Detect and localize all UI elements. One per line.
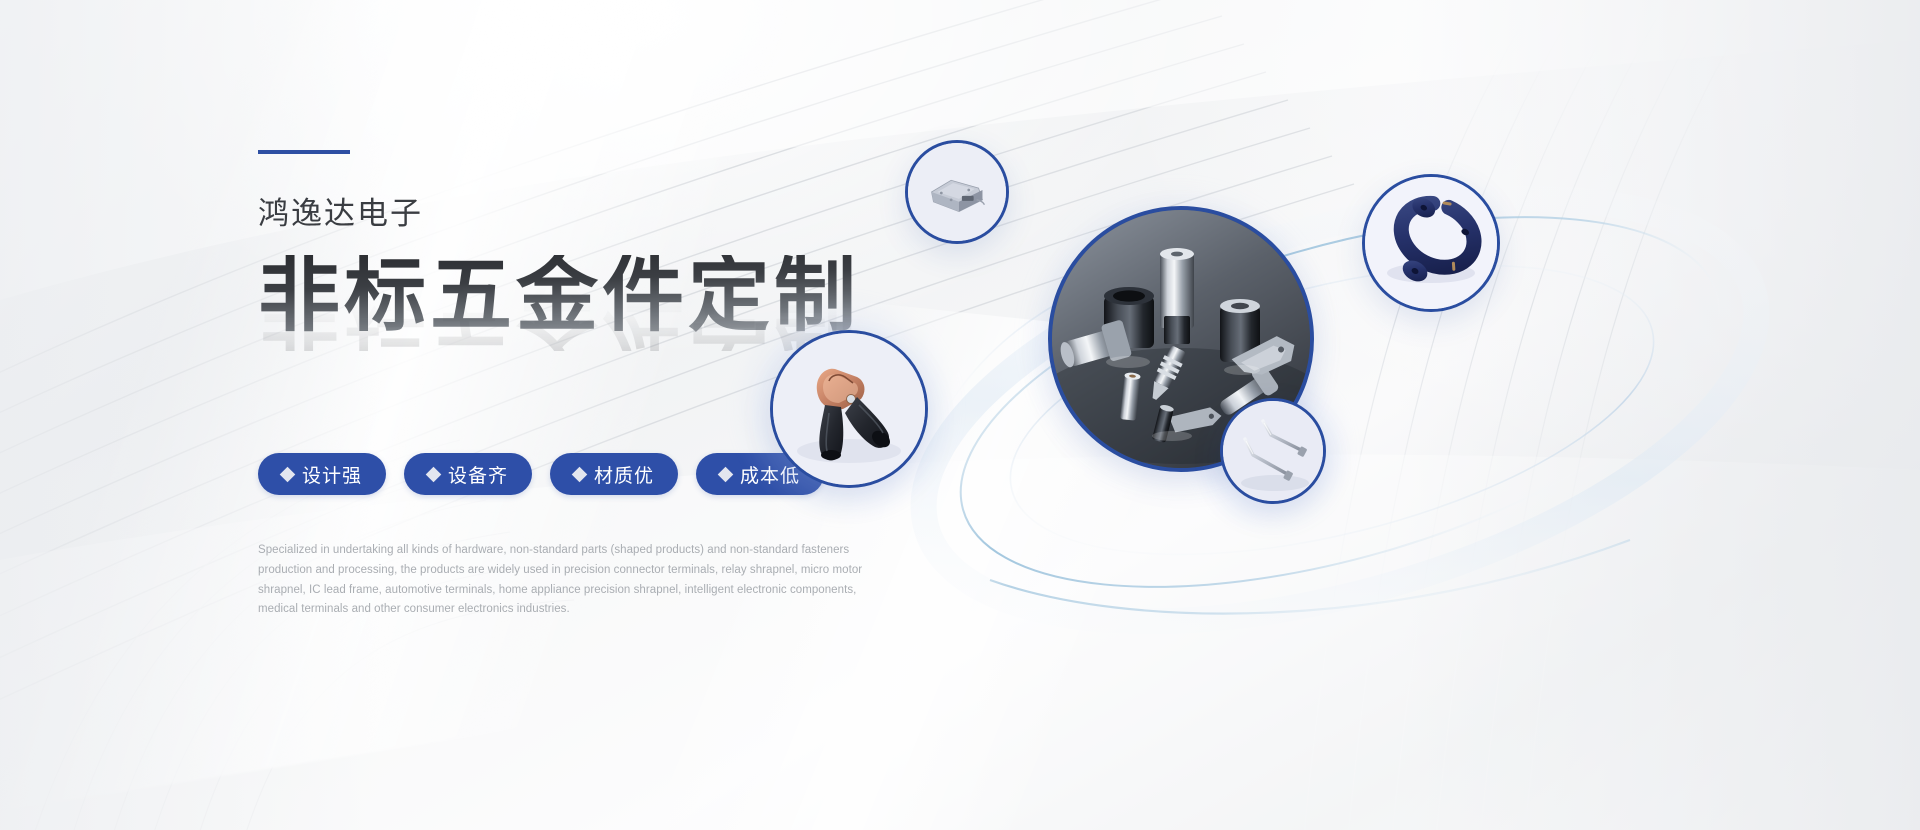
feature-pill-design[interactable]: 设计强 [258, 453, 386, 495]
product-node-metal-enclosure-box[interactable] [905, 140, 1009, 244]
product-showcase [930, 170, 1780, 620]
feature-pill-label: 成本低 [740, 461, 800, 488]
feature-pill-label: 材质优 [594, 461, 654, 488]
hero-banner: 鸿逸达电子 非标五金件定制 非标五金件定制 设计强 设备齐 材质优 成本低 [0, 0, 1920, 830]
diamond-icon [572, 466, 588, 482]
feature-pill-material[interactable]: 材质优 [550, 453, 678, 495]
product-node-blue-retaining-ring[interactable] [1362, 174, 1500, 312]
feature-pill-equipment[interactable]: 设备齐 [404, 453, 532, 495]
diamond-icon [426, 466, 442, 482]
product-node-copper-battery-clamp[interactable] [770, 330, 928, 488]
brand-name: 鸿逸达电子 [258, 198, 898, 229]
feature-pill-label: 设备齐 [448, 461, 508, 488]
diamond-icon [718, 466, 734, 482]
page-title: 非标五金件定制 [258, 255, 898, 337]
diamond-icon [280, 466, 296, 482]
feature-pill-label: 设计强 [302, 461, 362, 488]
accent-rule [258, 150, 350, 154]
product-node-bent-metal-terminal-pins[interactable] [1220, 398, 1326, 504]
company-description: Specialized in undertaking all kinds of … [258, 541, 878, 620]
